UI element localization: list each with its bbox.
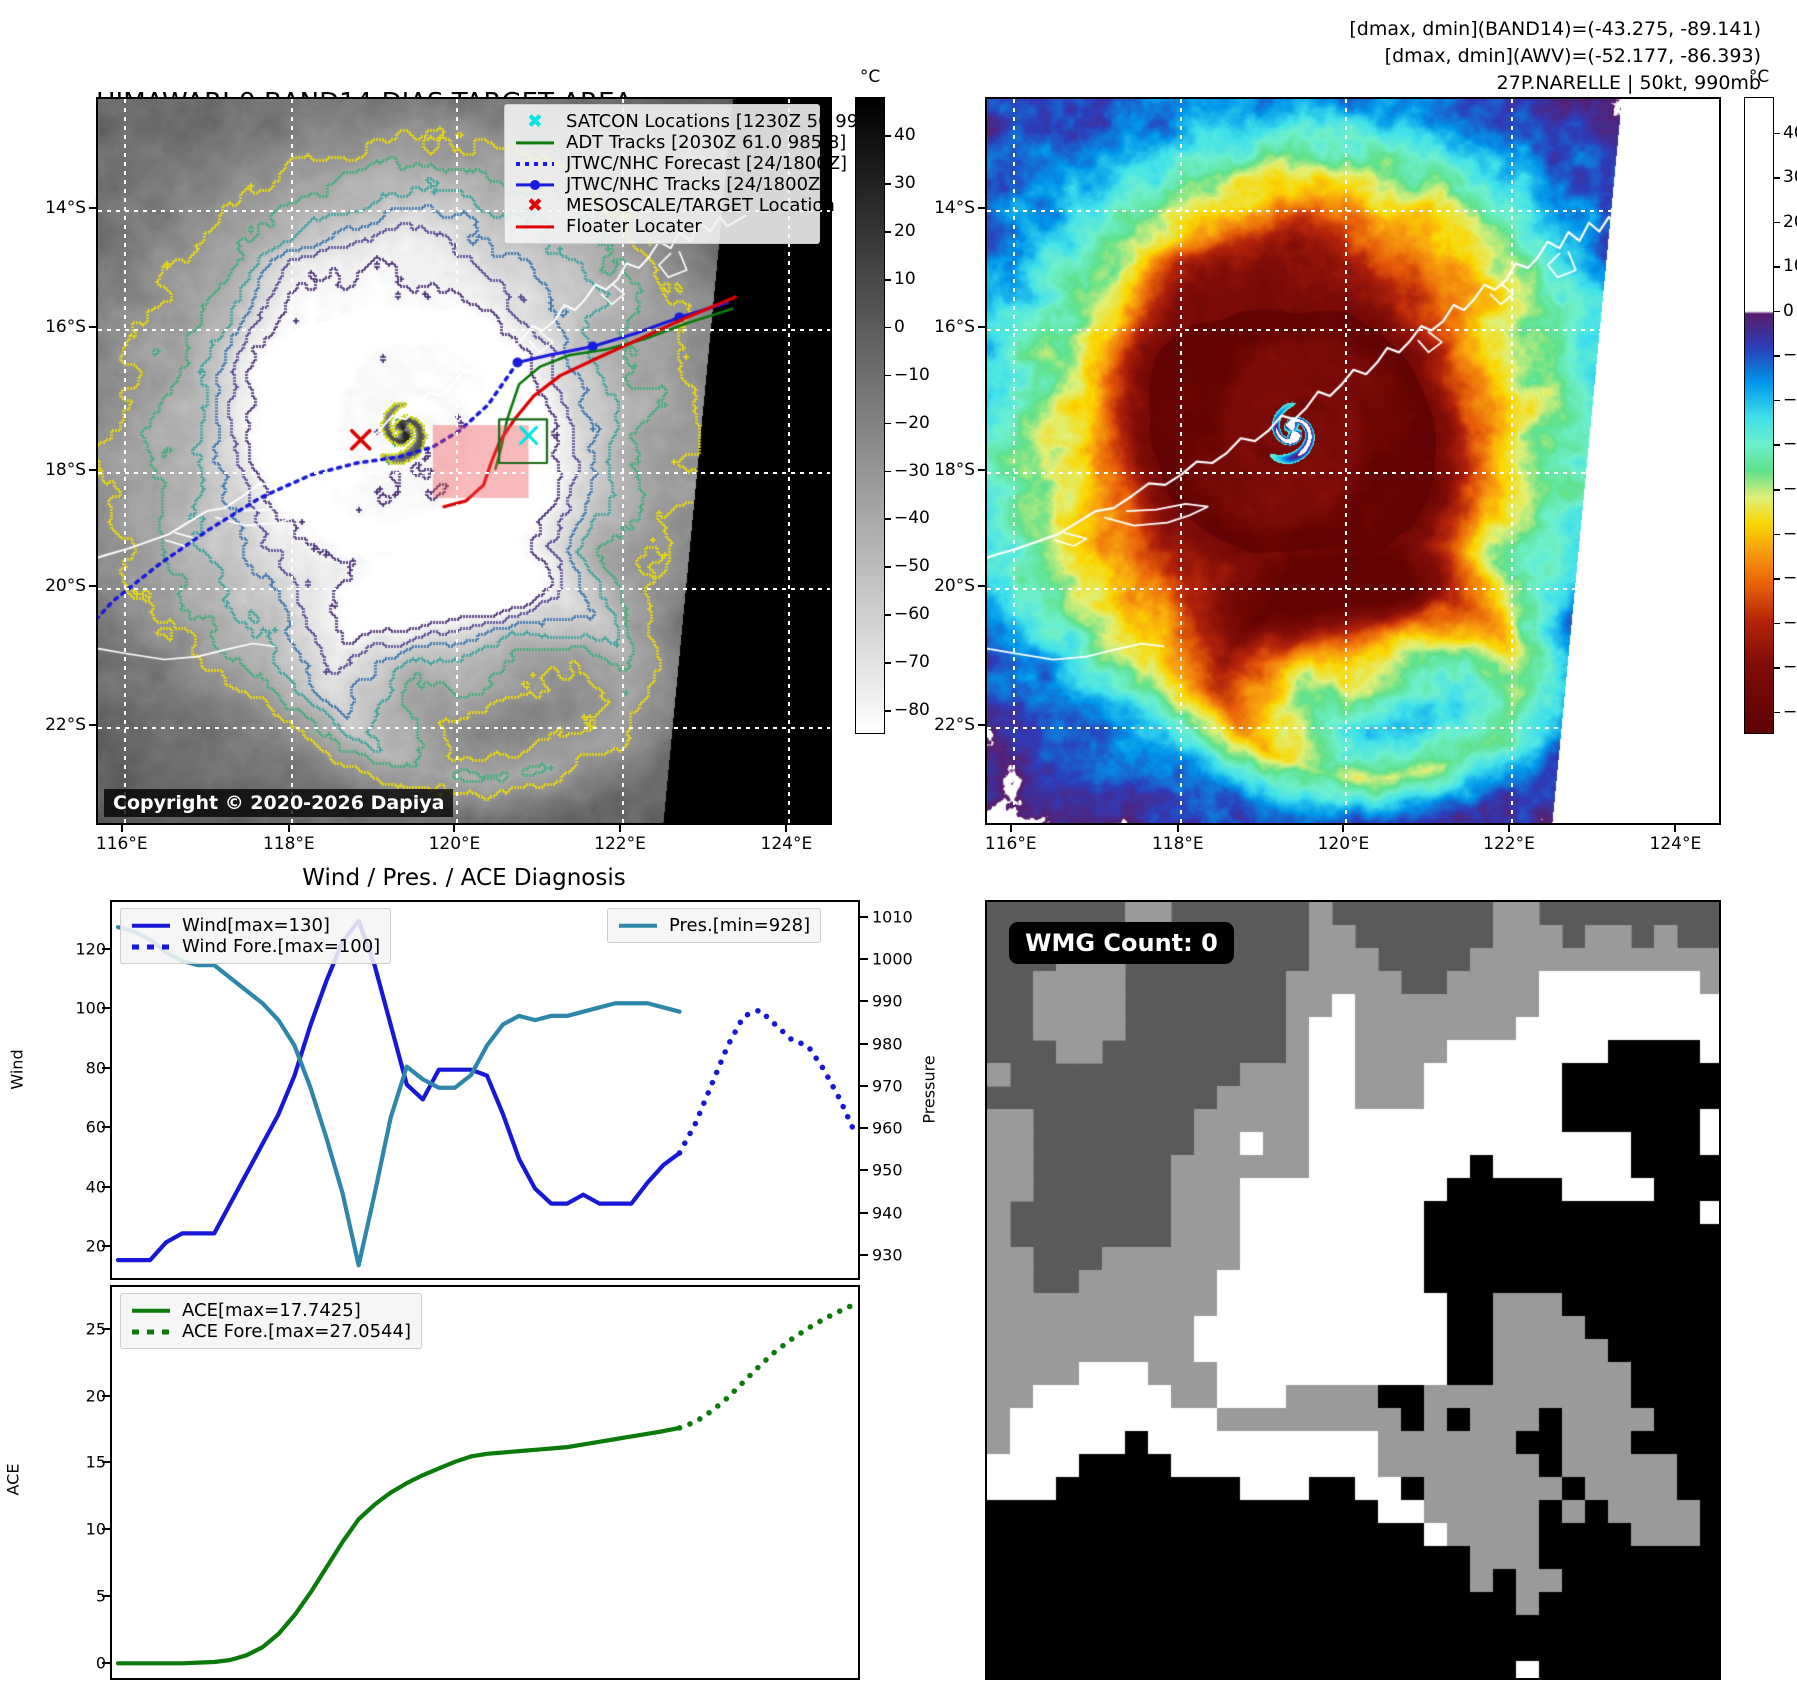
ace-tick-label-mark xyxy=(102,1662,110,1664)
wind-tick-label-mark xyxy=(102,1067,110,1069)
lon-tick-label: 118°E xyxy=(263,834,315,854)
lat-tickmark xyxy=(978,326,985,328)
lat-tick-label: 18°S xyxy=(24,460,86,480)
colorbar-tick-label: 30 xyxy=(894,173,916,193)
wind-axis-label: Wind xyxy=(8,1049,27,1089)
graticule-meridian xyxy=(1677,99,1679,823)
wind-tick-label: 80 xyxy=(50,1058,106,1077)
pressure-tick-label: 1000 xyxy=(872,949,913,968)
dashboard-root: HIMAWARI-9 BAND14-DIAS TARGET AREA Time:… xyxy=(0,0,1797,1690)
lat-tickmark xyxy=(978,469,985,471)
pressure-tick-label: 970 xyxy=(872,1076,903,1095)
lat-tickmark xyxy=(978,207,985,209)
legend-key-dotted xyxy=(129,937,173,957)
legend-key-solid xyxy=(616,916,660,936)
colorbar-tickmark xyxy=(1774,489,1780,491)
line-swatch xyxy=(516,141,554,144)
lon-tickmark xyxy=(1508,825,1510,832)
colorbar-tickmark xyxy=(1774,400,1780,402)
colorbar-tickmark xyxy=(885,614,891,616)
legend-label: Wind[max=130] xyxy=(182,915,330,936)
legend-key-x: ✖ xyxy=(513,196,557,216)
colorbar-tick-label: −40 xyxy=(894,508,930,528)
graticule-parallel xyxy=(987,727,1719,729)
lon-tick-label: 122°E xyxy=(1483,834,1535,854)
chart-title-wind-pres-ace: Wind / Pres. / ACE Diagnosis xyxy=(302,865,625,891)
wind-tick-label: 20 xyxy=(50,1237,106,1256)
wind-tick-label-mark xyxy=(102,948,110,950)
colorbar-tick-label: −20 xyxy=(1783,390,1797,410)
colorbar-tickmark xyxy=(1774,712,1780,714)
lon-tick-label: 122°E xyxy=(594,834,646,854)
pressure-legend-box: Pres.[min=928] xyxy=(607,908,821,943)
pressure-tick-label-mark xyxy=(860,916,868,918)
colorbar-tickmark xyxy=(885,135,891,137)
graticule-meridian xyxy=(291,99,293,823)
graticule-parallel xyxy=(98,472,830,474)
colorbar-tickmark xyxy=(885,423,891,425)
legend-key-solid xyxy=(129,916,173,936)
wind-tick-label: 40 xyxy=(50,1177,106,1196)
graticule-meridian xyxy=(1511,99,1513,823)
colorbar-tickmark xyxy=(1774,444,1780,446)
ace-tick-label: 20 xyxy=(50,1386,106,1405)
lat-tickmark xyxy=(978,585,985,587)
pressure-tick-label: 980 xyxy=(872,1034,903,1053)
lon-tick-label: 116°E xyxy=(985,834,1037,854)
graticule-parallel xyxy=(98,727,830,729)
legend-row: JTWC/NHC Forecast [24/1800Z] xyxy=(513,153,809,174)
lat-tick-label: 16°S xyxy=(913,317,975,337)
lat-tick-label: 22°S xyxy=(913,715,975,735)
line-swatch xyxy=(516,225,554,228)
lon-tick-label: 120°E xyxy=(429,834,481,854)
colorbar-tick-label: 10 xyxy=(1783,256,1797,276)
wind-tick-label-mark xyxy=(102,1186,110,1188)
lat-tick-label: 18°S xyxy=(913,460,975,480)
lat-tick-label: 20°S xyxy=(913,576,975,596)
colorbar-tick-label: −10 xyxy=(894,365,930,385)
ace-tick-label-mark xyxy=(102,1461,110,1463)
lat-tick-label: 16°S xyxy=(24,317,86,337)
colorbar-tick-label: 40 xyxy=(1783,123,1797,143)
colorbar-tick-label: 20 xyxy=(894,221,916,241)
pressure-tick-label-mark xyxy=(860,1169,868,1171)
series-ace-fore- xyxy=(680,1304,856,1428)
lat-tick-label: 14°S xyxy=(913,198,975,218)
colorbar-enhanced-ir-unit: °C xyxy=(1749,67,1769,87)
colorbar-tick-label: 10 xyxy=(894,269,916,289)
pressure-tick-label-mark xyxy=(860,1212,868,1214)
colorbar-tick-label: −20 xyxy=(894,413,930,433)
colorbar-tickmark xyxy=(1774,266,1780,268)
series-wind-fore- xyxy=(680,1010,856,1153)
colorbar-band14 xyxy=(855,97,885,734)
pressure-tick-label-mark xyxy=(860,1127,868,1129)
stat-band14: [dmax, dmin](BAND14)=(-43.275, -89.141) xyxy=(1349,16,1761,43)
legend-label: Pres.[min=928] xyxy=(669,915,810,936)
lat-tick-label: 14°S xyxy=(24,198,86,218)
lon-tickmark xyxy=(785,825,787,832)
pressure-tick-label: 1010 xyxy=(872,907,913,926)
graticule-meridian xyxy=(1180,99,1182,823)
wind-tick-label-mark xyxy=(102,1007,110,1009)
colorbar-enhanced-ir-gradient xyxy=(1745,98,1773,733)
colorbar-enhanced-ir xyxy=(1744,97,1774,734)
graticule-parallel xyxy=(987,588,1719,590)
colorbar-tick-label: −50 xyxy=(894,556,930,576)
legend-row: ✖MESOSCALE/TARGET Location xyxy=(513,195,809,216)
pressure-tick-label: 950 xyxy=(872,1161,903,1180)
ace-tick-label: 10 xyxy=(50,1520,106,1539)
ace-tick-label: 5 xyxy=(50,1586,106,1605)
ace-tick-label-mark xyxy=(102,1328,110,1330)
lon-tickmark xyxy=(619,825,621,832)
line-swatch xyxy=(619,923,657,928)
legend-row: Wind[max=130] xyxy=(129,915,380,936)
legend-row: ACE Fore.[max=27.0544] xyxy=(129,1321,411,1342)
colorbar-tick-label: −90 xyxy=(1783,702,1797,722)
graticule-meridian xyxy=(1013,99,1015,823)
copyright-notice: Copyright © 2020-2026 Dapiya xyxy=(104,789,453,817)
lat-tickmark xyxy=(89,326,96,328)
map-legend-box: ✖SATCON Locations [1230Z 50 990]ADT Trac… xyxy=(504,104,820,244)
pressure-tick-label-mark xyxy=(860,1000,868,1002)
graticule-meridian xyxy=(124,99,126,823)
legend-row: ✖SATCON Locations [1230Z 50 990] xyxy=(513,111,809,132)
lat-tickmark xyxy=(89,469,96,471)
lon-tick-label: 124°E xyxy=(1650,834,1702,854)
legend-label: MESOSCALE/TARGET Location xyxy=(566,195,835,216)
colorbar-tickmark xyxy=(1774,667,1780,669)
legend-key-x: ✖ xyxy=(513,112,557,132)
x-marker: ✖ xyxy=(527,196,543,215)
colorbar-tickmark xyxy=(885,566,891,568)
colorbar-band14-unit: °C xyxy=(860,67,880,87)
wind-tick-label: 100 xyxy=(50,999,106,1018)
legend-label: ADT Tracks [2030Z 61.0 985.8] xyxy=(566,132,846,153)
lat-tick-label: 20°S xyxy=(24,576,86,596)
header-stats: [dmax, dmin](BAND14)=(-43.275, -89.141) … xyxy=(1349,16,1761,97)
lon-tickmark xyxy=(453,825,455,832)
colorbar-tickmark xyxy=(1774,578,1780,580)
line-swatch xyxy=(132,1308,170,1313)
legend-key-line xyxy=(513,133,557,153)
legend-row: ACE[max=17.7425] xyxy=(129,1300,411,1321)
dotted-swatch xyxy=(132,944,170,949)
legend-label: Wind Fore.[max=100] xyxy=(182,936,380,957)
pressure-tick-label: 930 xyxy=(872,1245,903,1264)
graticule-parallel xyxy=(98,588,830,590)
colorbar-tick-label: −80 xyxy=(1783,657,1797,677)
graticule-meridian xyxy=(456,99,458,823)
wind-legend-box: Wind[max=130]Wind Fore.[max=100] xyxy=(120,908,391,964)
x-marker: ✖ xyxy=(527,112,543,131)
ace-tick-label-mark xyxy=(102,1595,110,1597)
colorbar-tickmark xyxy=(885,662,891,664)
pressure-tick-label-mark xyxy=(860,958,868,960)
ace-legend-box: ACE[max=17.7425]ACE Fore.[max=27.0544] xyxy=(120,1293,422,1349)
colorbar-tick-label: −30 xyxy=(1783,434,1797,454)
dotted-swatch xyxy=(132,1329,170,1334)
legend-row: Pres.[min=928] xyxy=(616,915,810,936)
lon-tickmark xyxy=(1177,825,1179,832)
lon-tickmark xyxy=(1342,825,1344,832)
colorbar-tick-label: 0 xyxy=(1783,301,1794,321)
stat-awv: [dmax, dmin](AWV)=(-52.177, -86.393) xyxy=(1349,43,1761,70)
lat-tickmark xyxy=(89,585,96,587)
colorbar-tickmark xyxy=(885,231,891,233)
graticule-parallel xyxy=(987,472,1719,474)
wmg-count-badge: WMG Count: 0 xyxy=(1009,922,1234,964)
pressure-tick-label-mark xyxy=(860,1043,868,1045)
legend-key-line-dot xyxy=(513,175,557,195)
colorbar-tickmark xyxy=(885,710,891,712)
dotted-swatch xyxy=(516,162,554,166)
ace-tick-label-mark xyxy=(102,1528,110,1530)
colorbar-tickmark xyxy=(885,279,891,281)
legend-label: ACE[max=17.7425] xyxy=(182,1300,361,1321)
enhanced-ir-imagery xyxy=(987,99,1721,825)
colorbar-tickmark xyxy=(1774,355,1780,357)
colorbar-tickmark xyxy=(1774,311,1780,313)
colorbar-tickmark xyxy=(1774,534,1780,536)
ace-tick-label: 15 xyxy=(50,1453,106,1472)
satellite-map-enhanced-ir[interactable] xyxy=(985,97,1721,825)
legend-key-solid xyxy=(129,1301,173,1321)
colorbar-tick-label: −60 xyxy=(1783,568,1797,588)
colorbar-band14-gradient xyxy=(856,98,884,733)
pressure-tick-label: 940 xyxy=(872,1203,903,1222)
ace-tick-label: 25 xyxy=(50,1320,106,1339)
colorbar-tickmark xyxy=(1774,222,1780,224)
lon-tick-label: 116°E xyxy=(96,834,148,854)
wind-tick-label: 60 xyxy=(50,1118,106,1137)
pressure-tick-label: 960 xyxy=(872,1119,903,1138)
ace-tick-label: 0 xyxy=(50,1653,106,1672)
pressure-axis-label: Pressure xyxy=(920,1055,939,1123)
colorbar-tick-label: 0 xyxy=(894,317,905,337)
colorbar-tickmark xyxy=(885,183,891,185)
lon-tick-label: 118°E xyxy=(1152,834,1204,854)
legend-row: Wind Fore.[max=100] xyxy=(129,936,380,957)
lon-tickmark xyxy=(1010,825,1012,832)
lon-tickmark xyxy=(121,825,123,832)
legend-key-line xyxy=(513,217,557,237)
legend-label: JTWC/NHC Tracks [24/1800Z] xyxy=(566,174,827,195)
graticule-parallel xyxy=(98,329,830,331)
colorbar-tickmark xyxy=(885,518,891,520)
wind-tick-label-mark xyxy=(102,1245,110,1247)
legend-label: ACE Fore.[max=27.0544] xyxy=(182,1321,411,1342)
graticule-parallel xyxy=(987,329,1719,331)
series-pres- xyxy=(118,927,680,1265)
wmg-cluster-map xyxy=(987,902,1721,1680)
colorbar-tick-label: −10 xyxy=(1783,345,1797,365)
colorbar-tickmark xyxy=(1774,177,1780,179)
legend-label: Floater Locater xyxy=(566,216,702,237)
lat-tickmark xyxy=(89,207,96,209)
ace-axis-label: ACE xyxy=(3,1464,22,1496)
legend-row: ADT Tracks [2030Z 61.0 985.8] xyxy=(513,132,809,153)
lat-tick-label: 22°S xyxy=(24,715,86,735)
lat-tickmark xyxy=(89,724,96,726)
lon-tick-label: 124°E xyxy=(761,834,813,854)
legend-row: JTWC/NHC Tracks [24/1800Z] xyxy=(513,174,809,195)
colorbar-tickmark xyxy=(885,375,891,377)
colorbar-tick-label: −40 xyxy=(1783,479,1797,499)
lat-tickmark xyxy=(978,724,985,726)
legend-key-dotted xyxy=(129,1322,173,1342)
colorbar-tick-label: 30 xyxy=(1783,167,1797,187)
colorbar-tick-label: 40 xyxy=(894,125,916,145)
colorbar-tickmark xyxy=(1774,623,1780,625)
line-swatch xyxy=(132,923,170,928)
pressure-tick-label-mark xyxy=(860,1254,868,1256)
legend-label: SATCON Locations [1230Z 50 990] xyxy=(566,111,877,132)
storm-id-label: 27P.NARELLE | 50kt, 990mb xyxy=(1349,70,1761,97)
ace-tick-label-mark xyxy=(102,1395,110,1397)
legend-label: JTWC/NHC Forecast [24/1800Z] xyxy=(566,153,847,174)
lon-tickmark xyxy=(288,825,290,832)
colorbar-tickmark xyxy=(885,327,891,329)
colorbar-tick-label: 20 xyxy=(1783,212,1797,232)
pressure-tick-label-mark xyxy=(860,1085,868,1087)
colorbar-tick-label: −70 xyxy=(1783,613,1797,633)
colorbar-tickmark xyxy=(885,471,891,473)
wind-tick-label: 120 xyxy=(50,939,106,958)
legend-key-dotted xyxy=(513,154,557,174)
graticule-parallel xyxy=(987,210,1719,212)
colorbar-tick-label: −50 xyxy=(1783,524,1797,544)
series-ace xyxy=(118,1428,680,1663)
colorbar-tick-label: −70 xyxy=(894,652,930,672)
legend-row: Floater Locater xyxy=(513,216,809,237)
lon-tickmark xyxy=(1674,825,1676,832)
lon-tick-label: 120°E xyxy=(1318,834,1370,854)
wind-tick-label-mark xyxy=(102,1126,110,1128)
pressure-tick-label: 990 xyxy=(872,992,903,1011)
colorbar-tickmark xyxy=(1774,133,1780,135)
colorbar-tick-label: −60 xyxy=(894,604,930,624)
graticule-meridian xyxy=(1345,99,1347,823)
dot-marker xyxy=(530,180,540,190)
wmg-panel[interactable]: WMG Count: 0 xyxy=(985,900,1721,1680)
